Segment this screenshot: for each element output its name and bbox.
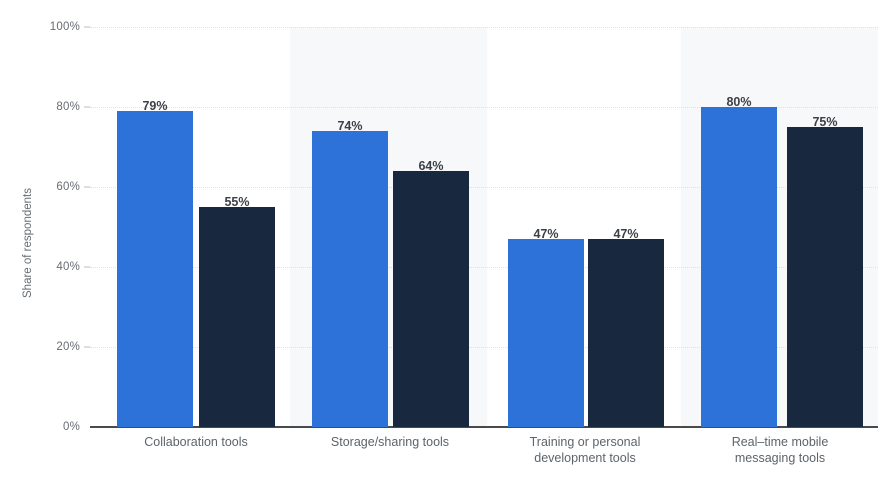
y-axis-title: Share of respondents — [22, 123, 34, 363]
x-category-label-2: Storage/sharing tools — [290, 434, 490, 450]
bar-series1-cat4[interactable] — [701, 107, 777, 427]
bar-value-series2-cat4: 75% — [812, 115, 837, 129]
y-tick-label-0: 0% — [20, 421, 80, 433]
bar-value-series1-cat1: 79% — [142, 99, 167, 113]
bar-series2-cat4[interactable] — [787, 127, 863, 427]
plot-area: 79% 55% 74% 64% 47% 47% 80% 75% — [90, 27, 878, 427]
y-tick-label-80: 80% — [20, 101, 80, 113]
bar-value-series2-cat2: 64% — [418, 159, 443, 173]
bar-series2-cat3[interactable] — [588, 239, 664, 427]
y-tick-label-40: 40% — [20, 261, 80, 273]
x-category-label-1: Collaboration tools — [96, 434, 296, 450]
bar-value-series2-cat1: 55% — [224, 195, 249, 209]
y-tick-label-100: 100% — [20, 21, 80, 33]
bar-series1-cat2[interactable] — [312, 131, 388, 427]
bar-series2-cat2[interactable] — [393, 171, 469, 427]
bar-value-series1-cat4: 80% — [726, 95, 751, 109]
bar-value-series1-cat2: 74% — [337, 119, 362, 133]
y-tick-label-60: 60% — [20, 181, 80, 193]
bar-chart: Share of respondents 100% 80% 60% 40% 20… — [0, 0, 885, 486]
bar-value-series1-cat3: 47% — [533, 227, 558, 241]
y-tick-label-20: 20% — [20, 341, 80, 353]
bar-series1-cat3[interactable] — [508, 239, 584, 427]
bar-value-series2-cat3: 47% — [613, 227, 638, 241]
bar-series2-cat1[interactable] — [199, 207, 275, 427]
x-category-label-3: Training or personal development tools — [485, 434, 685, 466]
x-category-label-4: Real–time mobile messaging tools — [680, 434, 880, 466]
bar-series1-cat1[interactable] — [117, 111, 193, 427]
gridline-100 — [90, 27, 878, 29]
